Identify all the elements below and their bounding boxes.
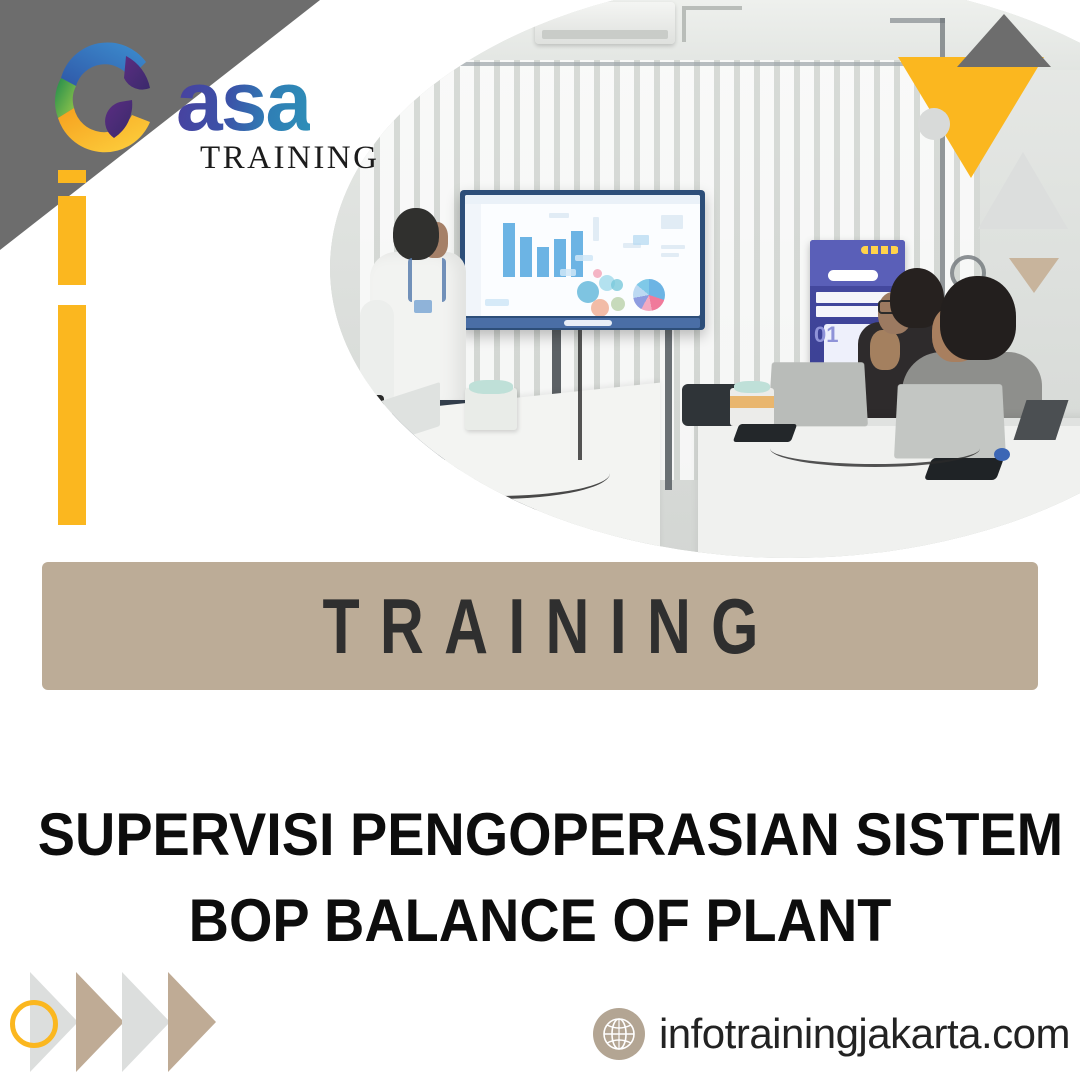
laptop [768,362,868,426]
presentation-display [460,190,705,330]
website-url[interactable]: infotrainingjakarta.com [659,1010,1070,1058]
training-banner: TRAINING [42,562,1038,690]
attendee-person-2 [940,276,1016,360]
poster-canvas: 01 02 [0,0,1080,1080]
logo-wordmark: asa [176,62,310,142]
title-line-2: BOP BALANCE OF PLANT [38,878,1042,964]
globe-icon [593,1008,645,1060]
triangle-tan-icon [1009,258,1059,293]
logo-subtitle: TRAINING [200,140,379,177]
yellow-bar-4 [58,305,86,525]
triangle-gray-icon [957,14,1051,67]
chevron-arrow-icon [122,972,170,1072]
training-banner-label: TRAINING [302,581,779,672]
circle-outline-icon [10,1000,58,1048]
chevron-arrow-icon [76,972,124,1072]
title-line-1: SUPERVISI PENGOPERASIAN SISTEM [38,792,1042,878]
presenter-person [393,208,439,260]
circular-swoosh-logo-icon [28,22,178,172]
chevron-arrow-icon [168,972,216,1072]
circle-gray-icon [918,108,950,140]
brand-logo[interactable]: asa TRAINING [28,22,348,172]
screen-pie-chart [633,279,665,311]
website-footer[interactable]: infotrainingjakarta.com [593,1008,1070,1060]
yellow-bar-3 [58,232,86,285]
screen-bar-chart [503,221,589,277]
triangle-white-icon [978,152,1068,229]
page-title: SUPERVISI PENGOPERASIAN SISTEM BOP BALAN… [0,792,1080,964]
